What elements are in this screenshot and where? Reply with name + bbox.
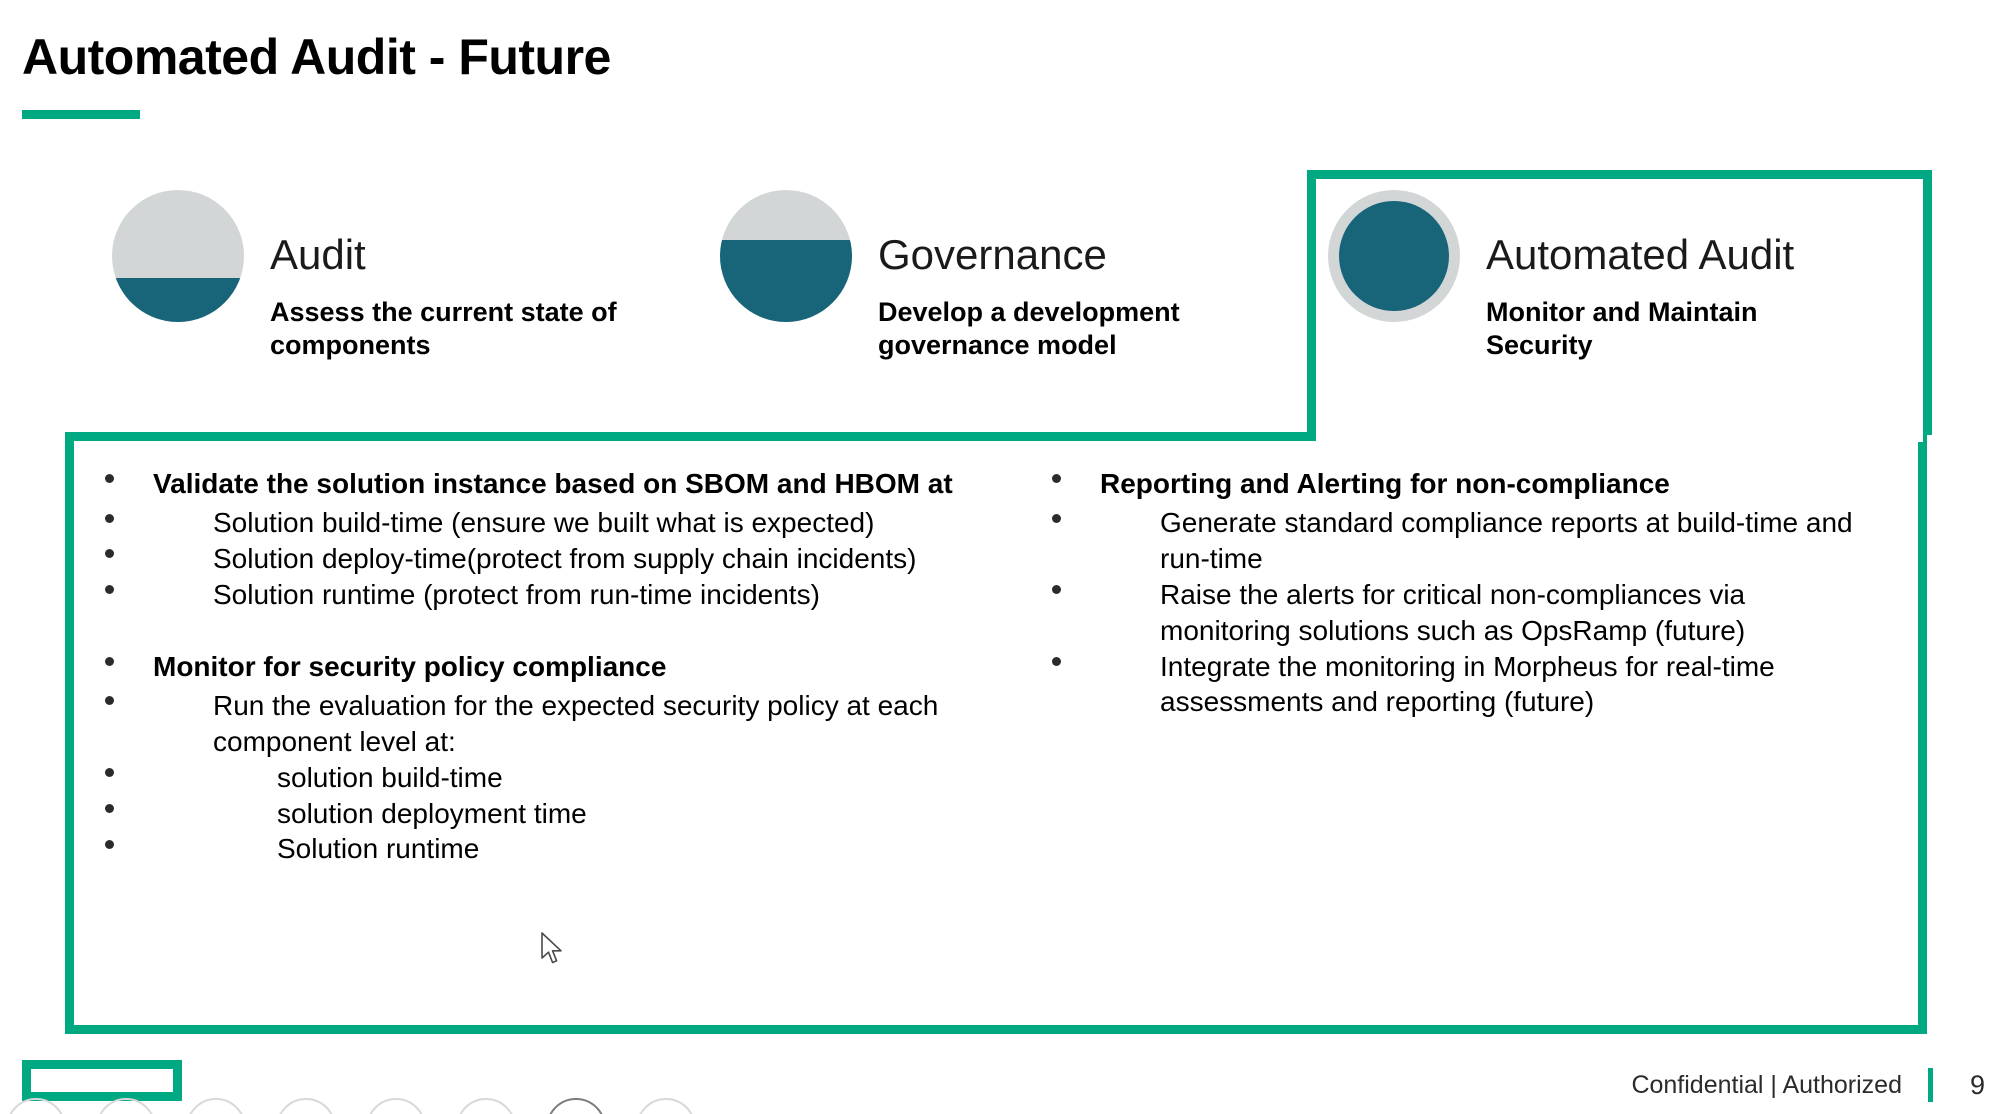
bullet-text: Solution deploy-time(protect from supply… bbox=[213, 541, 956, 577]
bullet-dot-icon bbox=[105, 657, 114, 666]
bullet-item-level-3: solution deployment time bbox=[105, 796, 956, 832]
title-accent-bar bbox=[22, 110, 140, 119]
two-thirds-filled-circle-icon bbox=[720, 190, 852, 322]
bullet-item-level-2: Solution build-time (ensure we built wha… bbox=[105, 505, 956, 541]
pillar-heading: Audit bbox=[270, 234, 670, 276]
half-filled-circle-icon bbox=[112, 190, 244, 322]
bullet-item-level-2: Integrate the monitoring in Morpheus for… bbox=[1052, 649, 1877, 721]
pillar-subtitle: Monitor and Maintain Security bbox=[1486, 296, 1866, 362]
bullet-item-level-2: Run the evaluation for the expected secu… bbox=[105, 688, 956, 760]
bullet-text: Run the evaluation for the expected secu… bbox=[213, 688, 956, 760]
app-icon-7[interactable] bbox=[546, 1098, 606, 1114]
bullet-text: Solution runtime bbox=[277, 831, 956, 867]
bullet-dot-icon bbox=[1052, 585, 1061, 594]
app-icon-5[interactable] bbox=[366, 1098, 426, 1114]
circle-fill bbox=[1339, 201, 1450, 312]
bullet-dot-icon bbox=[105, 474, 114, 483]
bullet-text: Generate standard compliance reports at … bbox=[1160, 505, 1877, 577]
bullet-item-level-2: Generate standard compliance reports at … bbox=[1052, 505, 1877, 577]
app-icon-1[interactable] bbox=[6, 1098, 66, 1114]
pillar-heading: Governance bbox=[878, 234, 1278, 276]
taskbar bbox=[0, 1092, 2013, 1114]
bullet-text: Raise the alerts for critical non-compli… bbox=[1160, 577, 1877, 649]
left-bullet-list: Validate the solution instance based on … bbox=[105, 466, 956, 867]
right-bullet-list: Reporting and Alerting for non-complianc… bbox=[1052, 466, 1877, 720]
bullet-dot-icon bbox=[105, 514, 114, 523]
bullet-dot-icon bbox=[105, 804, 114, 813]
app-icon-4[interactable] bbox=[276, 1098, 336, 1114]
bullet-dot-icon bbox=[105, 768, 114, 777]
bullet-dot-icon bbox=[105, 549, 114, 558]
bullet-item-level-2: Solution deploy-time(protect from supply… bbox=[105, 541, 956, 577]
right-bullet-column: Reporting and Alerting for non-complianc… bbox=[996, 466, 1907, 1030]
app-icon-2[interactable] bbox=[96, 1098, 156, 1114]
bullet-item-level-2: Solution runtime (protect from run-time … bbox=[105, 577, 956, 613]
circle-fill bbox=[720, 240, 852, 322]
bullet-text: Validate the solution instance based on … bbox=[153, 466, 956, 501]
bullet-text: solution build-time bbox=[277, 760, 956, 796]
bullet-item-level-3: solution build-time bbox=[105, 760, 956, 796]
bullet-item-level-1: Validate the solution instance based on … bbox=[105, 466, 956, 501]
pillar-automated-audit: Automated Audit Monitor and Maintain Sec… bbox=[1328, 190, 1866, 362]
bullet-dot-icon bbox=[105, 585, 114, 594]
bullet-text: solution deployment time bbox=[277, 796, 956, 832]
full-filled-circle-icon bbox=[1328, 190, 1460, 322]
bullet-dot-icon bbox=[105, 696, 114, 705]
pillar-heading: Automated Audit bbox=[1486, 234, 1866, 276]
bullet-dot-icon bbox=[1052, 657, 1061, 666]
pillar-governance: Governance Develop a development governa… bbox=[720, 190, 1278, 362]
pillar-subtitle: Develop a development governance model bbox=[878, 296, 1278, 362]
bullet-text: Reporting and Alerting for non-complianc… bbox=[1100, 466, 1877, 501]
app-icon-3[interactable] bbox=[186, 1098, 246, 1114]
pillar-audit: Audit Assess the current state of compon… bbox=[112, 190, 670, 362]
app-icon-8[interactable] bbox=[636, 1098, 696, 1114]
bullet-item-level-1: Monitor for security policy compliance bbox=[105, 649, 956, 684]
circle-fill bbox=[112, 278, 244, 322]
bullet-dot-icon bbox=[1052, 514, 1061, 523]
bullet-text: Solution runtime (protect from run-time … bbox=[213, 577, 956, 613]
bullet-item-level-2: Raise the alerts for critical non-compli… bbox=[1052, 577, 1877, 649]
pillar-subtitle: Assess the current state of components bbox=[270, 296, 670, 362]
app-icon-6[interactable] bbox=[456, 1098, 516, 1114]
mouse-cursor bbox=[540, 932, 566, 966]
bullet-text: Solution build-time (ensure we built wha… bbox=[213, 505, 956, 541]
content-area: Validate the solution instance based on … bbox=[65, 440, 1927, 1030]
bullet-item-level-1: Reporting and Alerting for non-complianc… bbox=[1052, 466, 1877, 501]
bullet-text: Monitor for security policy compliance bbox=[153, 649, 956, 684]
bullet-group-gap bbox=[105, 613, 956, 649]
bullet-dot-icon bbox=[105, 840, 114, 849]
bullet-item-level-3: Solution runtime bbox=[105, 831, 956, 867]
page-title: Automated Audit - Future bbox=[22, 28, 611, 86]
bullet-dot-icon bbox=[1052, 474, 1061, 483]
bullet-text: Integrate the monitoring in Morpheus for… bbox=[1160, 649, 1877, 721]
